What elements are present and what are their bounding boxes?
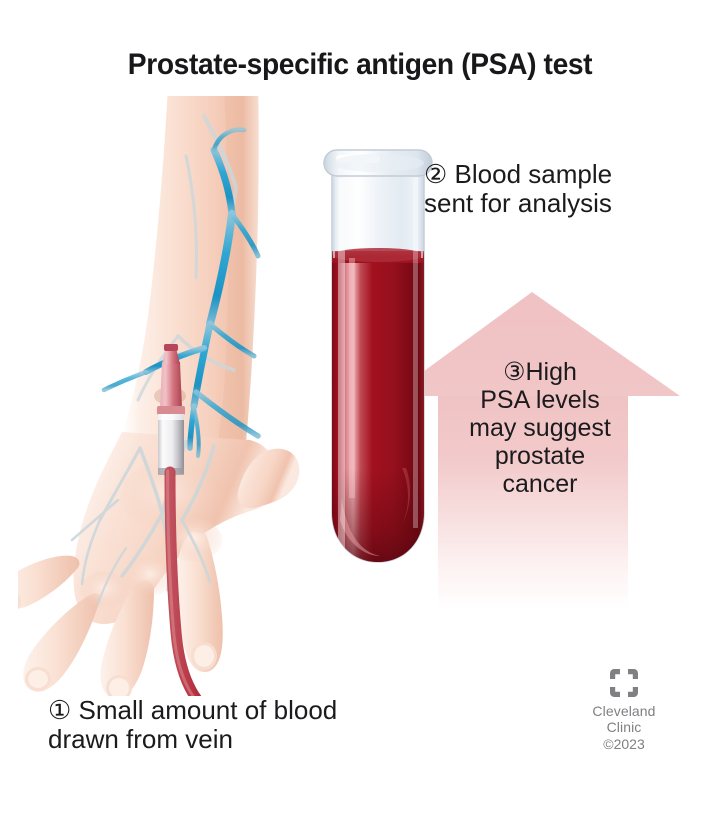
illustration-canvas: Prostate-specific antigen (PSA) test (0, 0, 720, 813)
callout-step-1: ① Small amount of blood drawn from vein (48, 696, 448, 753)
callout-step-3: ③High PSA levels may suggest prostate ca… (404, 358, 676, 498)
forearm-and-hand-with-veins (18, 96, 318, 696)
page-title: Prostate-specific antigen (PSA) test (22, 48, 699, 82)
logo-copyright: ©2023 (572, 736, 676, 752)
cleveland-clinic-logo-icon (609, 668, 639, 698)
logo-name-line-1: Cleveland (572, 703, 676, 719)
callout-step-2: ② Blood sample sent for analysis (424, 160, 694, 217)
logo-name-line-2: Clinic (572, 719, 676, 735)
cleveland-clinic-logo: Cleveland Clinic ©2023 (572, 668, 676, 752)
